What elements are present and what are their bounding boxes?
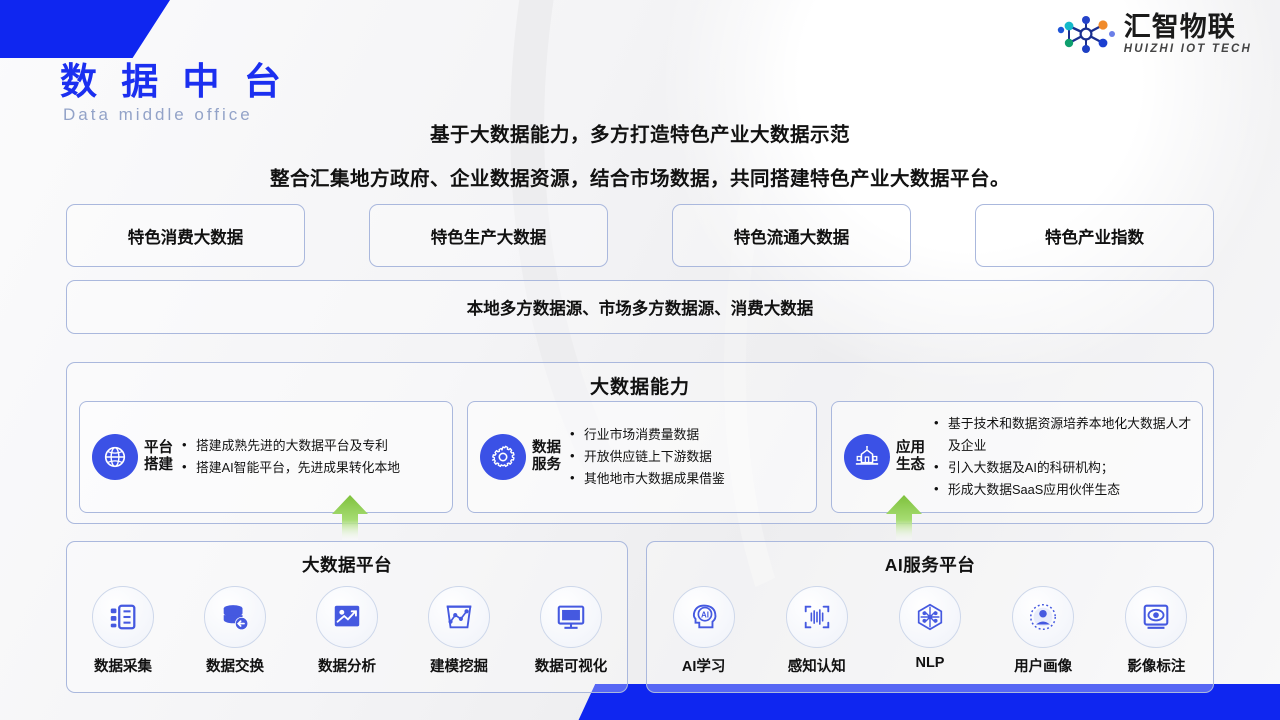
molecule-network-icon: [1056, 12, 1116, 56]
platform-item-label: 感知认知: [767, 655, 867, 676]
data-source-bar[interactable]: 本地多方数据源、市场多方数据源、消费大数据: [66, 280, 1214, 334]
top-category-boxes: 特色消费大数据 特色生产大数据 特色流通大数据 特色产业指数: [66, 204, 1214, 267]
brand-logo: 汇智物联 HUIZHI IOT TECH: [1056, 12, 1252, 56]
user-profile-icon: [1012, 586, 1074, 648]
logo-company-name: 汇智物联: [1124, 13, 1236, 41]
list-item: 引入大数据及AI的科研机构；: [932, 457, 1194, 479]
big-data-capability-panel: 大数据能力 平台 搭建 搭建成熟先: [66, 362, 1214, 524]
capability-label-line-2: 生态: [896, 457, 925, 473]
flow-arrow-right: [884, 494, 924, 540]
monitor-visualization-icon: [540, 586, 602, 648]
slide-title-block: 数 据 中 台 Data middle office: [60, 62, 288, 125]
platform-item-label: 建模挖掘: [409, 655, 509, 676]
capability-box-data-service[interactable]: 数据 服务 行业市场消费量数据 开放供应链上下游数据 其他地市大数据成果借鉴: [467, 401, 817, 513]
platform-title-ai-service: AI服务平台: [647, 552, 1213, 577]
data-collect-icon: [92, 586, 154, 648]
list-item: 开放供应链上下游数据: [568, 446, 725, 468]
flow-arrow-left: [330, 494, 370, 540]
platform-item-label: 影像标注: [1106, 655, 1206, 676]
waveform-scan-icon: [786, 586, 848, 648]
globe-icon: [92, 434, 138, 480]
page-title: 数 据 中 台: [60, 62, 288, 103]
category-box-industry-index[interactable]: 特色产业指数: [975, 204, 1214, 267]
slide-canvas: 汇智物联 HUIZHI IOT TECH 数 据 中 台 Data middle…: [0, 0, 1280, 720]
gear-icon: [480, 434, 526, 480]
platform-item-label: 数据可视化: [521, 655, 621, 676]
headline-line-2: 整合汇集地方政府、企业数据资源，结合市场数据，共同搭建特色产业大数据平台。: [0, 162, 1280, 191]
platform-item-data-visualization[interactable]: 数据可视化: [521, 586, 621, 676]
capability-bullets-platform: 搭建成熟先进的大数据平台及专利 搭建AI智能平台，先进成果转化本地: [180, 435, 400, 479]
capability-bullets-data-service: 行业市场消费量数据 开放供应链上下游数据 其他地市大数据成果借鉴: [568, 424, 725, 490]
headline-line-1: 基于大数据能力，多方打造特色产业大数据示范: [0, 118, 1280, 147]
capability-label-line-1: 平台: [144, 440, 173, 456]
ai-head-icon: AI: [673, 586, 735, 648]
capability-label-platform: 平台 搭建: [144, 440, 174, 474]
platform-panel-big-data: 大数据平台 数据采集: [66, 541, 628, 693]
capability-box-platform[interactable]: 平台 搭建 搭建成熟先进的大数据平台及专利 搭建AI智能平台，先进成果转化本地: [79, 401, 453, 513]
image-eye-icon: [1125, 586, 1187, 648]
capability-panel-title: 大数据能力: [67, 372, 1213, 399]
chart-analysis-icon: [316, 586, 378, 648]
platform-items-big-data: 数据采集 数据交换: [67, 586, 627, 676]
platform-item-perception[interactable]: 感知认知: [767, 586, 867, 676]
platform-item-model-mining[interactable]: 建模挖掘: [409, 586, 509, 676]
platform-item-ai-learning[interactable]: AI AI学习: [654, 586, 754, 676]
platform-item-data-collect[interactable]: 数据采集: [73, 586, 173, 676]
capability-label-line-2: 搭建: [144, 457, 173, 473]
capability-label-line-1: 数据: [532, 440, 561, 456]
platform-title-big-data: 大数据平台: [67, 552, 627, 577]
model-mining-icon: [428, 586, 490, 648]
capability-label-data-service: 数据 服务: [532, 440, 562, 474]
capability-bullets-app-ecosystem: 基于技术和数据资源培养本地化大数据人才及企业 引入大数据及AI的科研机构； 形成…: [932, 413, 1194, 501]
platform-item-label: NLP: [880, 655, 980, 671]
platform-item-label: 数据采集: [73, 655, 173, 676]
institution-icon: [844, 434, 890, 480]
platform-item-image-annotation[interactable]: 影像标注: [1106, 586, 1206, 676]
platform-item-label: AI学习: [654, 655, 754, 676]
capability-label-line-2: 服务: [532, 457, 561, 473]
platform-item-data-exchange[interactable]: 数据交换: [185, 586, 285, 676]
category-box-production[interactable]: 特色生产大数据: [369, 204, 608, 267]
logo-company-tagline: HUIZHI IOT TECH: [1124, 43, 1252, 55]
platform-panel-ai-service: AI服务平台 AI AI学习: [646, 541, 1214, 693]
category-box-consumption[interactable]: 特色消费大数据: [66, 204, 305, 267]
platform-item-user-profile[interactable]: 用户画像: [993, 586, 1093, 676]
platform-item-label: 数据交换: [185, 655, 285, 676]
top-left-accent-shape: [0, 0, 170, 58]
platform-items-ai-service: AI AI学习: [647, 586, 1213, 676]
list-item: 搭建成熟先进的大数据平台及专利: [180, 435, 400, 457]
platform-item-data-analysis[interactable]: 数据分析: [297, 586, 397, 676]
platform-item-label: 数据分析: [297, 655, 397, 676]
neural-network-icon: [899, 586, 961, 648]
list-item: 形成大数据SaaS应用伙伴生态: [932, 479, 1194, 501]
database-exchange-icon: [204, 586, 266, 648]
headline-block: 基于大数据能力，多方打造特色产业大数据示范 整合汇集地方政府、企业数据资源，结合…: [0, 118, 1280, 191]
list-item: 行业市场消费量数据: [568, 424, 725, 446]
capability-label-line-1: 应用: [896, 440, 925, 456]
platform-item-nlp[interactable]: NLP: [880, 586, 980, 671]
list-item: 基于技术和数据资源培养本地化大数据人才及企业: [932, 413, 1194, 457]
platform-item-label: 用户画像: [993, 655, 1093, 676]
list-item: 搭建AI智能平台，先进成果转化本地: [180, 457, 400, 479]
capability-boxes-row: 平台 搭建 搭建成熟先进的大数据平台及专利 搭建AI智能平台，先进成果转化本地: [79, 401, 1203, 513]
category-box-circulation[interactable]: 特色流通大数据: [672, 204, 911, 267]
svg-text:AI: AI: [701, 611, 709, 620]
capability-label-app-ecosystem: 应用 生态: [896, 440, 926, 474]
list-item: 其他地市大数据成果借鉴: [568, 468, 725, 490]
